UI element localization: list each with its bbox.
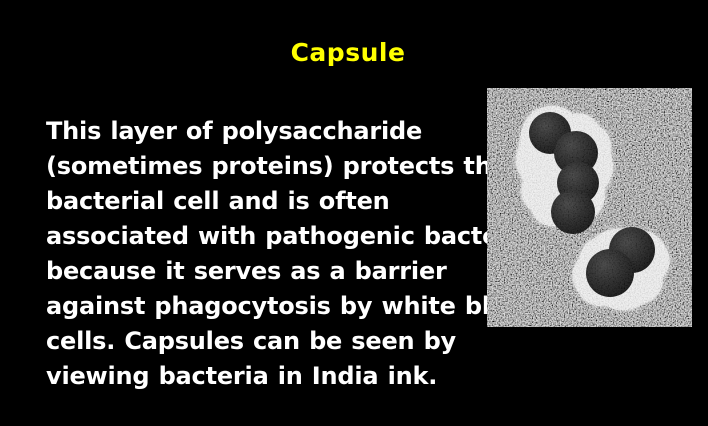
micrograph-canvas	[487, 88, 692, 327]
body-line: bacterial cell and is often	[46, 184, 476, 219]
body-line: because it serves as a barrier	[46, 254, 476, 289]
body-line: cells. Capsules can be seen by	[46, 324, 476, 359]
slide-canvas: Capsule This layer of polysaccharide (so…	[0, 0, 708, 426]
body-line: This layer of polysaccharide	[46, 114, 476, 149]
body-line: associated with pathogenic bacteria	[46, 219, 476, 254]
body-paragraph: This layer of polysaccharide (sometimes …	[46, 114, 476, 394]
micrograph-grain-overlay	[487, 88, 692, 327]
body-line: against phagocytosis by white blood	[46, 289, 476, 324]
body-line: (sometimes proteins) protects the	[46, 149, 476, 184]
page-title: Capsule	[0, 38, 696, 67]
capsule-micrograph-image	[487, 88, 692, 327]
body-line: viewing bacteria in India ink.	[46, 359, 476, 394]
